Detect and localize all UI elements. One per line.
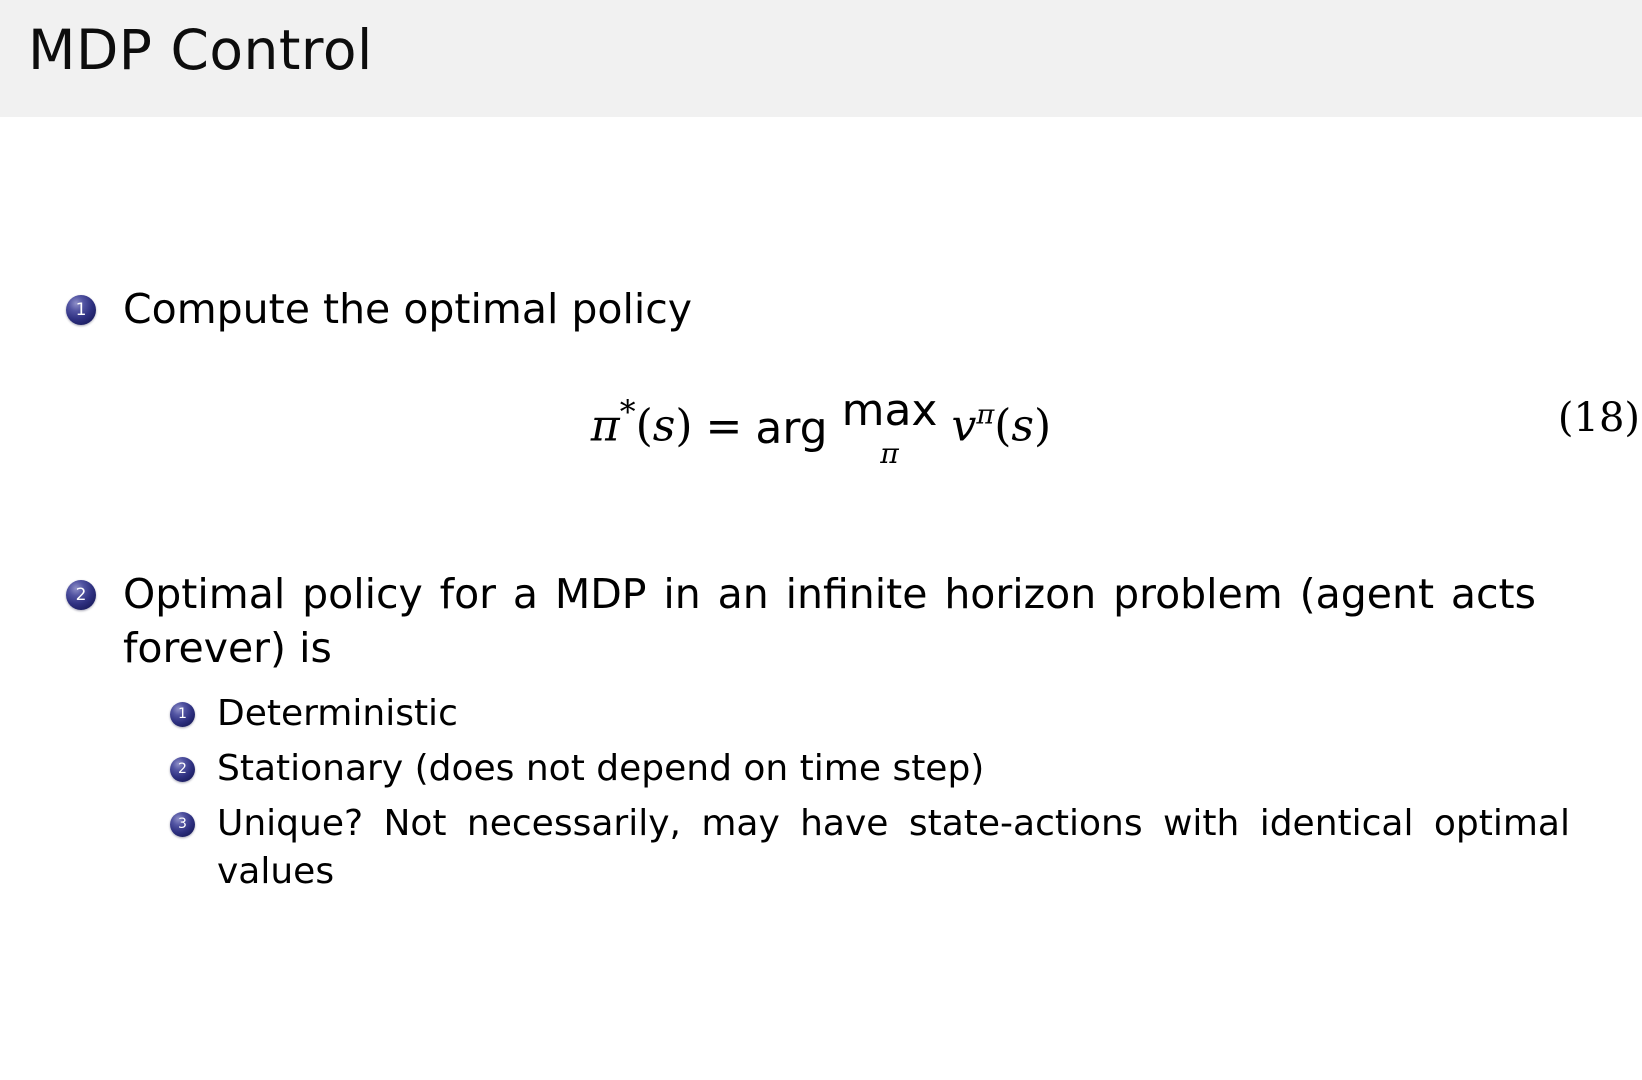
- equation-lhs-pi: π: [591, 401, 620, 452]
- equation-lhs-open-paren: (: [636, 401, 653, 452]
- slide: MDP Control 1 Compute the optimal policy…: [0, 0, 1642, 1080]
- equation-lhs-close-paren: ): [675, 401, 692, 452]
- sub-list: 1 Deterministic 2 Stationary (does not d…: [170, 690, 1570, 903]
- list-item-1: 1 Compute the optimal policy: [66, 282, 1566, 336]
- equation-arg-label: arg: [755, 403, 827, 454]
- equation-equals: =: [693, 401, 756, 452]
- slide-body: 1 Compute the optimal policy π*(s)=arg m…: [0, 117, 1642, 1080]
- equation-lhs-star: *: [620, 395, 636, 431]
- sub-enumerate-marker-1: 1: [170, 702, 195, 727]
- enumerate-marker-1: 1: [66, 295, 96, 325]
- sub-list-item-2: 2 Stationary (does not depend on time st…: [170, 745, 1570, 793]
- equation-rhs-value: v: [951, 401, 976, 452]
- equation-rhs-open-paren: (: [994, 401, 1011, 452]
- equation-number: (18): [1558, 395, 1640, 441]
- title-bar: MDP Control: [0, 0, 1642, 117]
- equation-rhs-superscript: π: [976, 400, 994, 431]
- list-item-1-text: Compute the optimal policy: [123, 282, 692, 336]
- equation-lhs-state: s: [653, 401, 676, 452]
- equation-block: π*(s)=arg maxπ vπ(s) (18): [0, 379, 1642, 509]
- equation-rhs-state: s: [1011, 401, 1034, 452]
- sub-list-item-3: 3 Unique? Not necessarily, may have stat…: [170, 800, 1570, 896]
- equation-argmax: maxπ: [842, 389, 938, 468]
- list-item-2: 2 Optimal policy for a MDP in an infinit…: [66, 567, 1536, 675]
- sub-list-item-3-text: Unique? Not necessarily, may have state-…: [217, 800, 1570, 896]
- equation-18: π*(s)=arg maxπ vπ(s): [0, 389, 1642, 468]
- equation-max-subscript: π: [880, 440, 899, 468]
- sub-list-item-1-text: Deterministic: [217, 690, 1570, 738]
- sub-list-item-2-text: Stationary (does not depend on time step…: [217, 745, 1570, 793]
- list-item-2-text: Optimal policy for a MDP in an infinite …: [123, 567, 1536, 675]
- equation-rhs-close-paren: ): [1034, 401, 1051, 452]
- equation-max-label: max: [842, 389, 938, 433]
- enumerate-marker-2: 2: [66, 580, 96, 610]
- sub-list-item-1: 1 Deterministic: [170, 690, 1570, 738]
- sub-enumerate-marker-3: 3: [170, 812, 195, 837]
- sub-enumerate-marker-2: 2: [170, 757, 195, 782]
- page-title: MDP Control: [28, 22, 373, 80]
